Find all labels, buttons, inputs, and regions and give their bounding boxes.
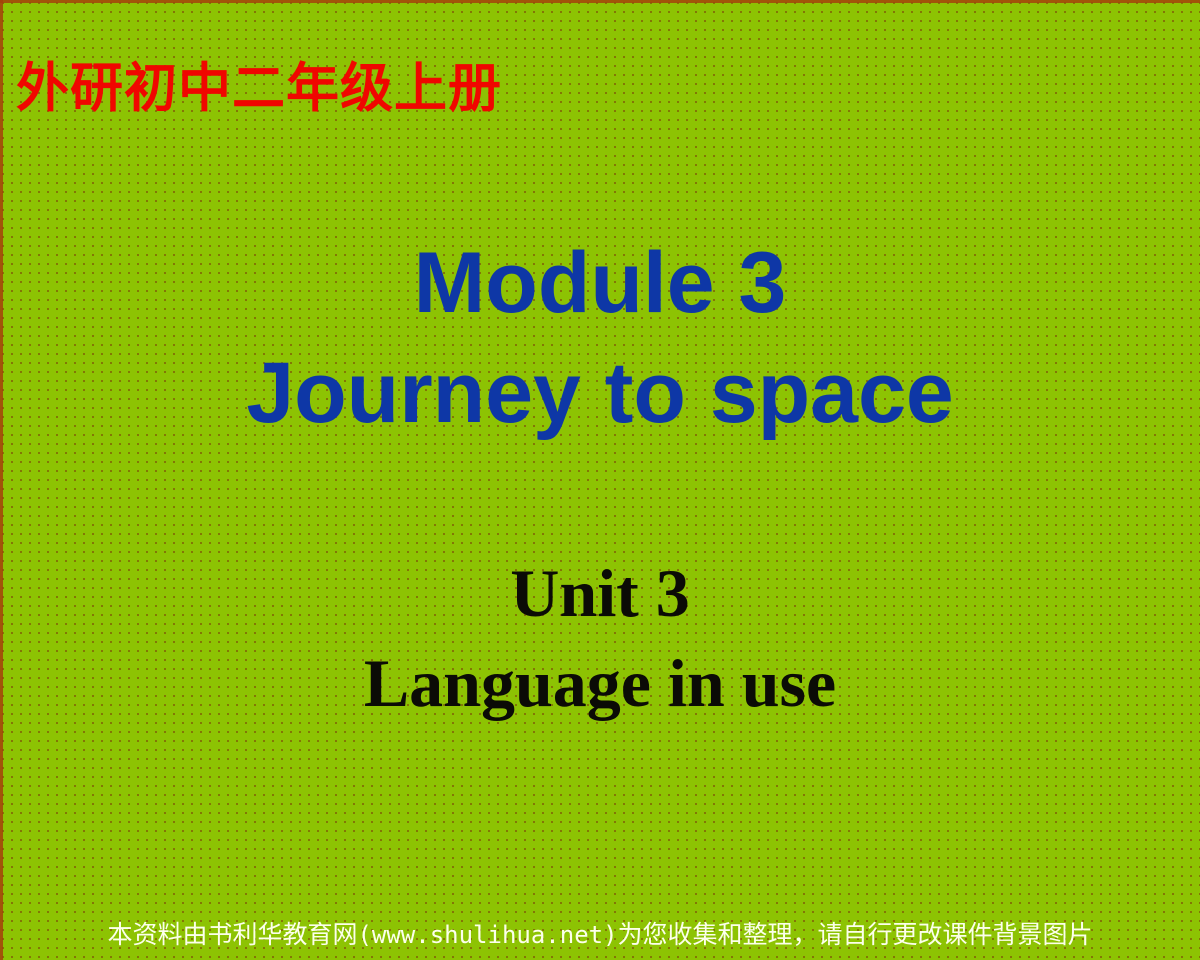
footer-prefix-text: 本资料由书利华教育网 <box>107 920 357 949</box>
unit-title: Unit 3 Language in use <box>0 548 1200 728</box>
unit-title-line-1: Unit 3 <box>0 548 1200 638</box>
unit-title-line-2: Language in use <box>0 638 1200 728</box>
module-title-line-2: Journey to space <box>0 338 1200 448</box>
left-edge-rule <box>0 0 3 960</box>
slide-canvas: 外研初中二年级上册 Module 3 Journey to space Unit… <box>0 0 1200 960</box>
background-texture <box>0 0 1200 960</box>
course-label: 外研初中二年级上册 <box>16 58 656 120</box>
footer-url-text: (www.shulihua.net) <box>357 921 617 949</box>
footer-suffix-text: 为您收集和整理，请自行更改课件背景图片 <box>618 920 1093 949</box>
module-title: Module 3 Journey to space <box>0 228 1200 448</box>
top-edge-rule <box>0 0 1200 3</box>
module-title-line-1: Module 3 <box>0 228 1200 338</box>
footer-credit-note: 本资料由书利华教育网(www.shulihua.net)为您收集和整理，请自行更… <box>0 918 1200 952</box>
